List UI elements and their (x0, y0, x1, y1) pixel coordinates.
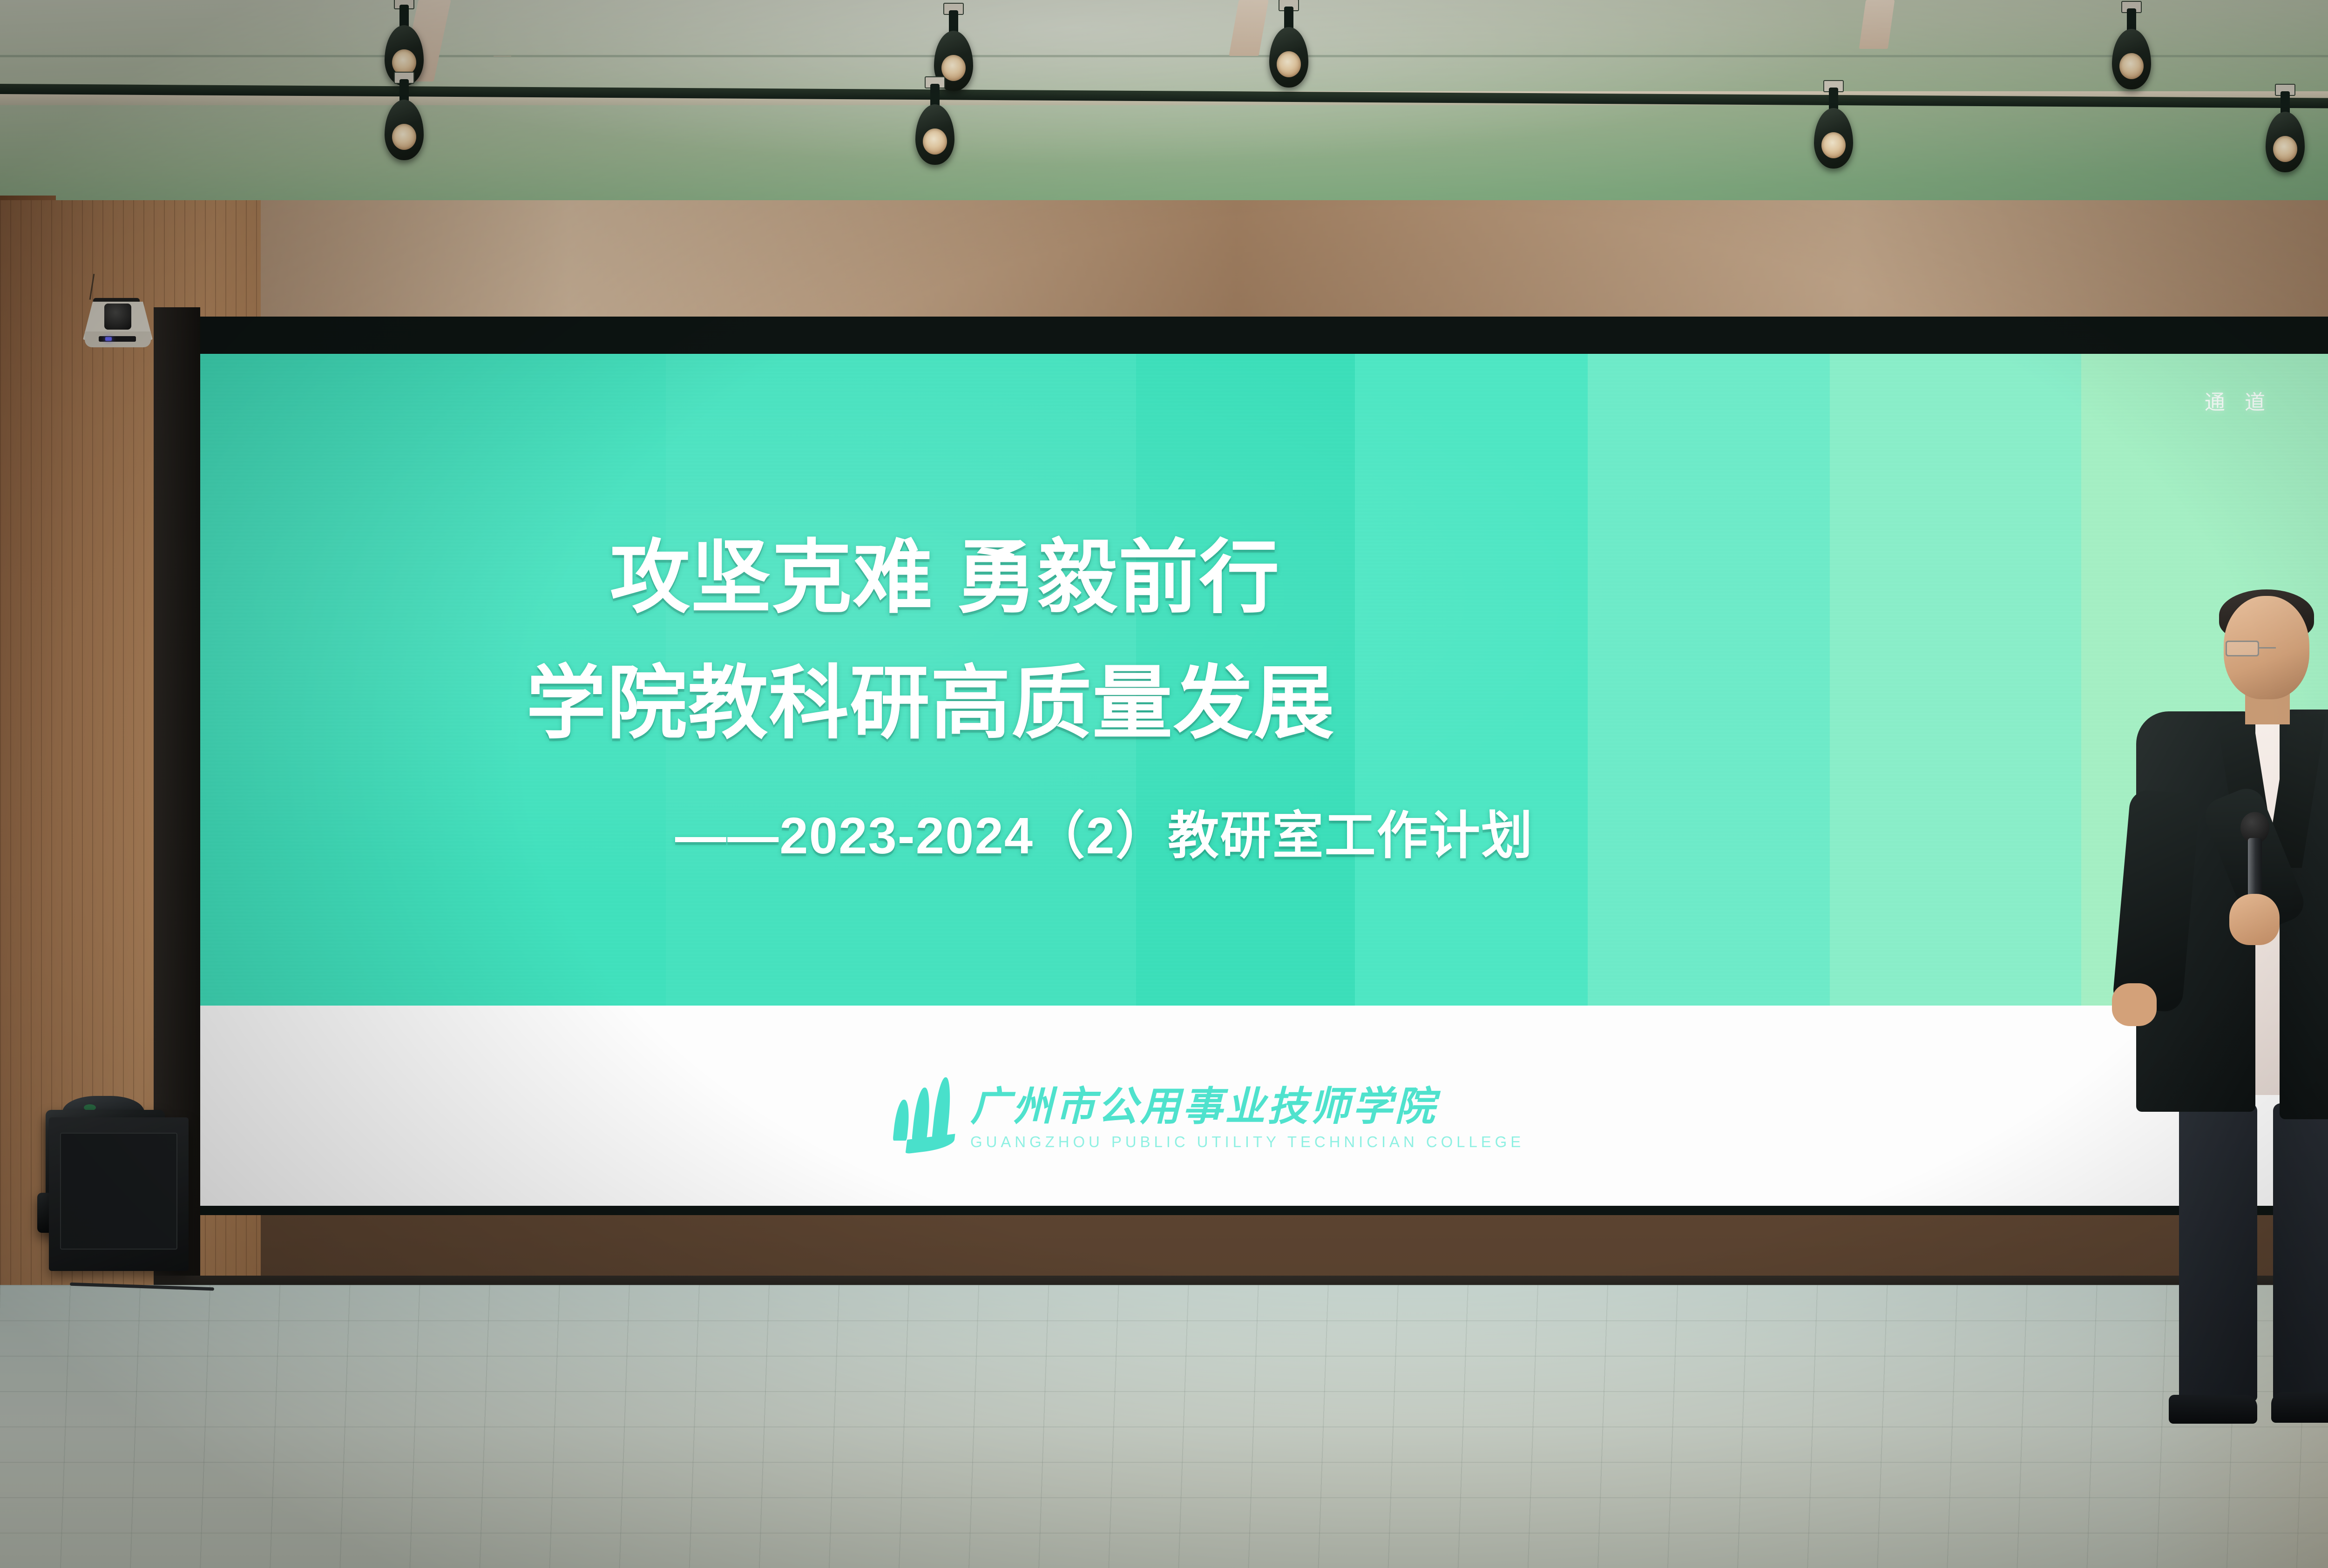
presenter (2114, 596, 2328, 1448)
track-spotlight[interactable] (913, 84, 957, 168)
slide-title-line-1: 攻坚克难 勇毅前行 (610, 512, 1280, 629)
spotlight-lens-icon (923, 128, 947, 155)
college-logo-mark-icon (894, 1082, 954, 1151)
presenter-leg-right (2273, 1103, 2328, 1401)
spotlight-lens-icon (392, 124, 416, 150)
ceiling-highlight (0, 0, 2328, 219)
speaker-grill (60, 1133, 177, 1250)
college-logo-chinese-name: 广州市公用事业技师学院 (970, 1087, 1524, 1127)
slide-title-line-2: 学院教科研高质量发展 (526, 638, 1335, 754)
presenter-leg-left (2179, 1103, 2257, 1401)
track-spotlight[interactable] (382, 79, 426, 163)
college-logo: 广州市公用事业技师学院 GUANGZHOU PUBLIC UTILITY TEC… (894, 1082, 1524, 1151)
track-spotlight[interactable] (1811, 88, 1856, 171)
presenter-legs (2166, 1103, 2328, 1401)
camera-status-led (99, 336, 136, 342)
speaker-left (49, 1117, 189, 1271)
spotlight-lens-icon (2119, 53, 2144, 79)
presenter-hand-left (2112, 983, 2157, 1026)
presenter-shoe-left (2169, 1395, 2257, 1424)
ceiling-seam (0, 55, 2328, 57)
track-spotlight[interactable] (1266, 7, 1311, 90)
conference-hall-scene: 攻坚克难 勇毅前行 学院教科研高质量发展 ——2023-2024（2）教研室工作… (0, 0, 2328, 1568)
exit-channel-label: 通 道 (2205, 385, 2272, 415)
led-display-wall: 攻坚克难 勇毅前行 学院教科研高质量发展 ——2023-2024（2）教研室工作… (200, 354, 2328, 1206)
floor-row-seams (0, 1285, 2328, 1568)
presenter-shoe-right (2271, 1392, 2328, 1423)
spotlight-lens-icon (2273, 136, 2297, 162)
track-spotlight[interactable] (2109, 8, 2154, 92)
slide-subtitle: ——2023-2024（2）教研室工作计划 (675, 794, 1533, 868)
camera-lens-icon (104, 304, 131, 330)
presenter-hand-right (2229, 894, 2280, 945)
ceiling-slot (494, 56, 511, 56)
spotlight-lens-icon (1821, 132, 1846, 158)
ptz-camera-left[interactable] (83, 298, 153, 348)
presenter-glasses-icon (2226, 641, 2309, 656)
track-spotlight[interactable] (2263, 91, 2308, 175)
spotlight-lens-icon (1277, 51, 1301, 77)
college-logo-english-name: GUANGZHOU PUBLIC UTILITY TECHNICIAN COLL… (970, 1133, 1524, 1151)
